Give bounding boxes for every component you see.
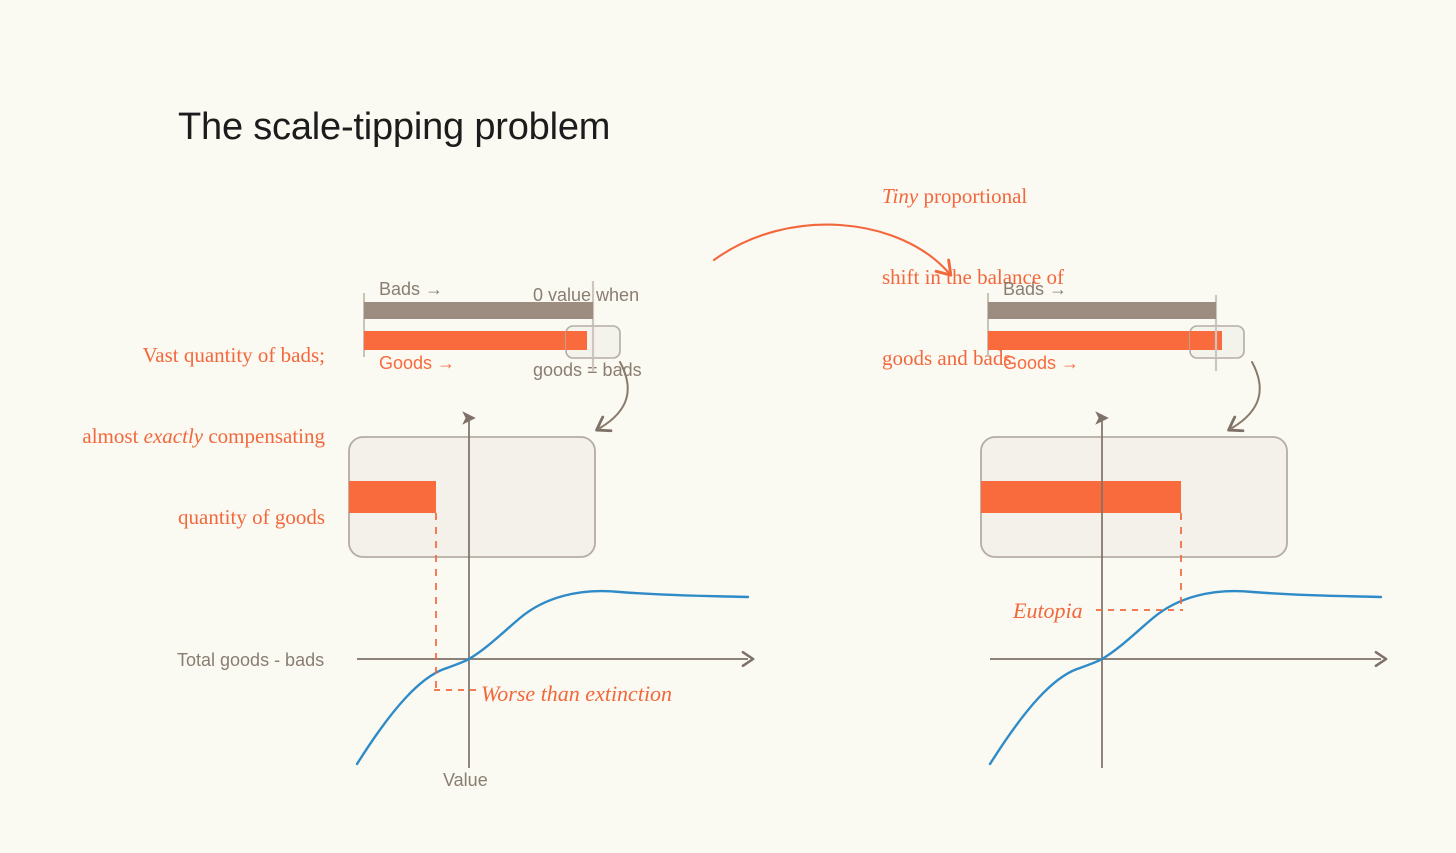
- left-zoom-goods-bar: [349, 481, 436, 513]
- right-bads-bar: [988, 302, 1216, 319]
- left-value-curve: [357, 591, 748, 764]
- diagram-canvas: The scale-tipping problem Vast quantity …: [0, 0, 1456, 853]
- shift-arrow-icon: [714, 225, 948, 272]
- right-zoom-connector-arrow-icon: [1232, 362, 1260, 428]
- right-value-curve: [990, 591, 1381, 764]
- right-zoom-goods-bar: [981, 481, 1181, 513]
- left-panel: [349, 281, 748, 768]
- right-panel: [981, 293, 1381, 768]
- left-zoom-connector-arrow-icon: [600, 362, 628, 428]
- left-bads-bar: [364, 302, 593, 319]
- right-goods-bar-tip: [1190, 331, 1222, 350]
- right-goods-bar: [988, 331, 1222, 350]
- diagram-vectors: [0, 0, 1456, 853]
- left-goods-bar-tip: [566, 331, 587, 350]
- left-goods-bar: [364, 331, 587, 350]
